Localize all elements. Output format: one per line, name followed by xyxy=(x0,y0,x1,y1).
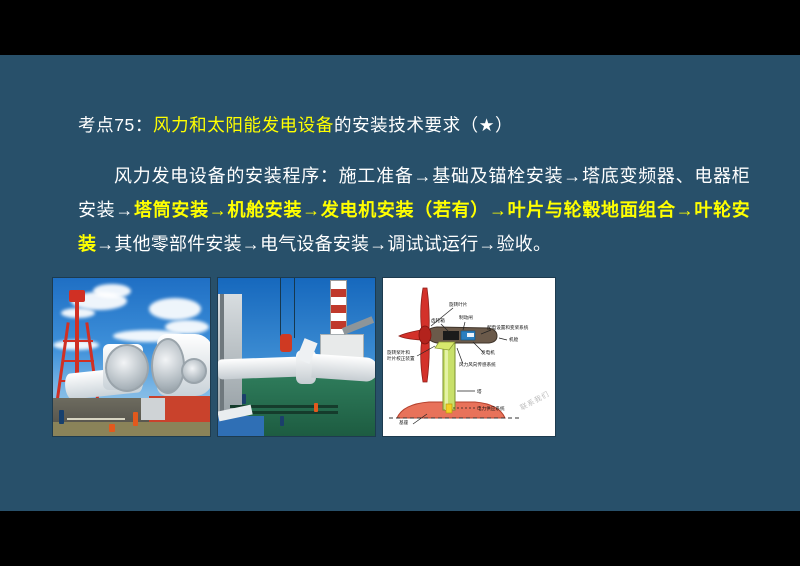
diagram-label: 旋转桨叶和 xyxy=(387,349,410,356)
blade-tip-section xyxy=(311,354,376,383)
cloud-shape xyxy=(93,284,131,298)
worker-figure xyxy=(242,394,246,404)
worker-figure xyxy=(314,403,318,412)
title-highlight: 风力和太阳能发电设备 xyxy=(153,115,334,135)
diagram-label: 配电设置和变桨系统 xyxy=(487,324,529,331)
letterbox-bottom-bar xyxy=(0,511,800,566)
deck-equipment xyxy=(141,398,165,420)
lifting-wire xyxy=(294,278,295,338)
tower-edge xyxy=(220,294,224,412)
worker-figure xyxy=(133,412,138,426)
title-suffix: 的安装技术要求（★） xyxy=(334,115,513,135)
crane-hook-block xyxy=(69,290,85,302)
crane-cross-brace xyxy=(62,360,94,362)
diagram-label: 制动闸 xyxy=(459,314,473,321)
lifting-wire xyxy=(280,278,281,340)
cloud-shape xyxy=(149,298,201,320)
diagram-label: 基座 xyxy=(399,419,409,426)
diagram-label: 发电机 xyxy=(481,349,495,356)
diagram-label: 机舱 xyxy=(509,336,519,343)
worker-figure xyxy=(109,424,115,432)
hub-disc-right xyxy=(151,338,185,394)
deck-edge xyxy=(53,422,210,436)
diagram-label: 旋转叶片 xyxy=(449,301,468,308)
diagram-wind-turbine: 旋转叶片 齿轮箱 制动闸 配电设置和变桨系统 机舱 发电机 风力风向传感系统 旋… xyxy=(382,277,556,437)
worker-figure xyxy=(280,416,284,426)
sequence-part-three: →其他零部件安装→电气设备安装→调试试运行→验收。 xyxy=(96,234,551,254)
worker-figure xyxy=(59,410,64,424)
hub-detail xyxy=(181,358,207,384)
diagram-label: 电力供应系统 xyxy=(477,405,505,412)
slide-title: 考点75：风力和太阳能发电设备的安装技术要求（★） xyxy=(78,114,513,136)
turbine-schematic-svg: 旋转叶片 齿轮箱 制动闸 配电设置和变桨系统 机舱 发电机 风力风向传感系统 旋… xyxy=(383,278,555,436)
crane-cross-brace xyxy=(63,340,93,342)
diagram-canvas: 旋转叶片 齿轮箱 制动闸 配电设置和变桨系统 机舱 发电机 风力风向传感系统 旋… xyxy=(383,278,555,436)
diagram-label: 塔 xyxy=(477,388,482,395)
deck-railing xyxy=(67,418,125,420)
diagram-label: 风力风向传感系统 xyxy=(459,361,496,368)
diagram-label: 叶片校正装置 xyxy=(387,355,415,362)
blade-root-section xyxy=(218,357,303,380)
letterbox-top-bar xyxy=(0,0,800,55)
diagram-label: 齿轮箱 xyxy=(431,317,445,324)
slide-canvas: 考点75：风力和太阳能发电设备的安装技术要求（★） 风力发电设备的安装程序：施工… xyxy=(0,55,800,511)
hub-disc xyxy=(105,344,149,392)
installation-sequence-paragraph: 风力发电设备的安装程序：施工准备→基础及锚栓安装→塔底变频器、电器柜安装→塔筒安… xyxy=(78,159,750,261)
lifting-hook xyxy=(280,334,292,352)
photo-blade-on-deck xyxy=(217,277,376,437)
image-strip: 旋转叶片 齿轮箱 制动闸 配电设置和变桨系统 机舱 发电机 风力风向传感系统 旋… xyxy=(52,277,556,437)
video-player: 考点75：风力和太阳能发电设备的安装技术要求（★） 风力发电设备的安装程序：施工… xyxy=(0,0,800,566)
title-prefix: 考点75： xyxy=(78,115,153,135)
photo-nacelle-hoisting xyxy=(52,277,211,437)
